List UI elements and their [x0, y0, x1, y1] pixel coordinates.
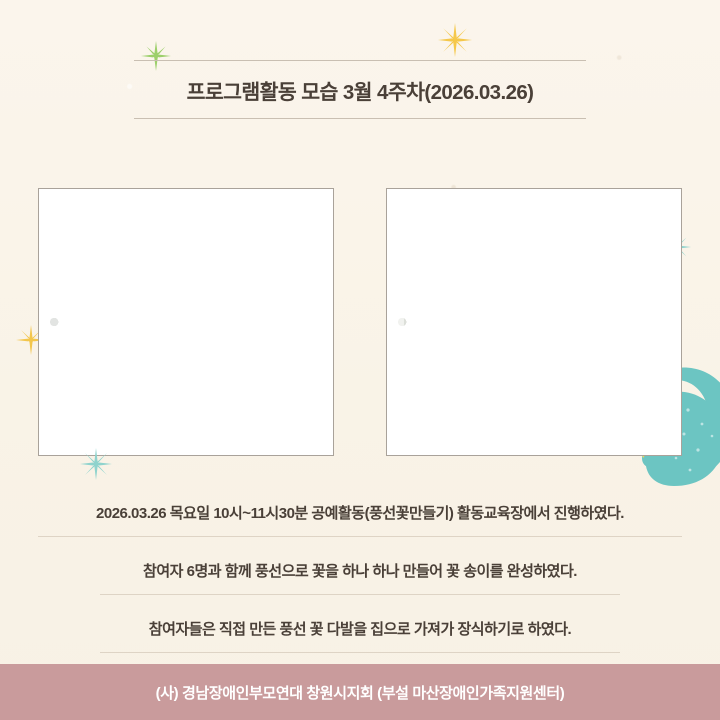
- photo-right-frame[interactable]: [386, 188, 682, 456]
- activity-report-card: 프로그램활동 모습 3월 4주차(2026.03.26): [0, 0, 720, 720]
- photo-gallery: [38, 188, 682, 456]
- organization-footer: (사) 경남장애인부모연대 창원시지회 (부설 마산장애인가족지원센터): [0, 664, 720, 720]
- description-line-3: 참여자들은 직접 만든 풍선 꽃 다발을 집으로 가져가 장식하기로 하였다.: [0, 618, 720, 653]
- header-rule-bottom: [134, 118, 586, 119]
- organization-name: (사) 경남장애인부모연대 창원시지회 (부설 마산장애인가족지원센터): [156, 682, 565, 703]
- description-line-2: 참여자 6명과 함께 풍선으로 꽃을 하나 하나 만들어 꽃 송이를 완성하였다…: [0, 560, 720, 595]
- activity-description: 2026.03.26 목요일 10시~11시30분 공예활동(풍선꽃만들기) 활…: [0, 502, 720, 676]
- sparkle-yellow-top-mid-icon: [438, 23, 472, 62]
- photo-left[interactable]: [50, 201, 322, 443]
- page-title: 프로그램활동 모습 3월 4주차(2026.03.26): [134, 61, 586, 118]
- photo-right[interactable]: [398, 201, 670, 443]
- photo-left-frame[interactable]: [38, 188, 334, 456]
- report-header: 프로그램활동 모습 3월 4주차(2026.03.26): [134, 60, 586, 119]
- description-line-1: 2026.03.26 목요일 10시~11시30분 공예활동(풍선꽃만들기) 활…: [0, 502, 720, 537]
